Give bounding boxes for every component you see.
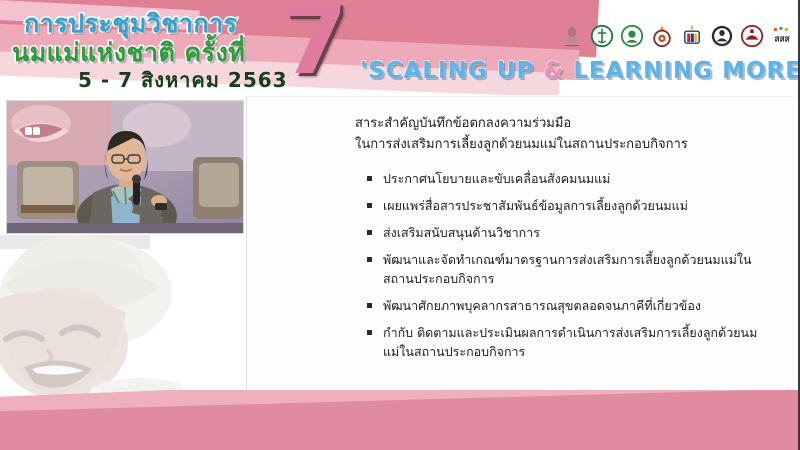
- thai-breastfeeding-centre-logo: [710, 24, 734, 48]
- baby-photo: [0, 235, 245, 410]
- sponsor-logo-row: สสส: [560, 24, 794, 48]
- royal-crest-logo: [560, 24, 584, 48]
- thaihealth-sss-logo: สสส: [770, 24, 794, 48]
- edition-number: 7: [281, 0, 351, 86]
- list-item: เผยแพร่สื่อสารประชาสัมพันธ์ข้อมูลการเลี้…: [367, 196, 767, 215]
- content-heading: สาระสำคัญบันทึกข้อตกลงความร่วมมือ ในการส…: [355, 113, 688, 155]
- ministry-social-development-logo: [680, 24, 704, 48]
- edition-number-badge: 7: [281, 0, 351, 86]
- conference-date: 5 - 7 สิงหาคม 2563: [78, 64, 288, 95]
- svg-text:สสส: สสส: [775, 33, 791, 43]
- list-item: กำกับ ติดตามและประเมินผลการดำเนินการส่งเ…: [367, 323, 767, 361]
- speaker-video-image: [7, 101, 243, 233]
- content-bullet-list: ประกาศนโยบายและขับเคลื่อนสังคมนมแม่ เผยแ…: [367, 169, 767, 369]
- baby-photo-image: [0, 235, 245, 410]
- speaker-video-thumbnail[interactable]: [6, 100, 244, 234]
- ministry-labour-logo: [650, 24, 674, 48]
- slide-header-banner: 7 การประชุมวิชาการ นมแม่แห่งชาติ ครั้งที…: [0, 0, 800, 95]
- bottom-pink-wave: [0, 390, 800, 450]
- list-item: ประกาศนโยบายและขับเคลื่อนสังคมนมแม่: [367, 169, 767, 188]
- federation-thai-industries-logo: [740, 24, 764, 48]
- presentation-slide: 7 การประชุมวิชาการ นมแม่แห่งชาติ ครั้งที…: [0, 0, 800, 450]
- ministry-public-health-logo: [590, 24, 614, 48]
- list-item: พัฒนาศักยภาพบุคลากรสาธารณสุขตลอดจนภาคีที…: [367, 296, 767, 315]
- health-department-logo: [620, 24, 644, 48]
- list-item: ส่งเสริมสนับสนุนด้านวิชาการ: [367, 223, 767, 242]
- conference-tagline: 'SCALING UP & LEARNING MORE': [360, 58, 800, 84]
- content-heading-line1: สาระสำคัญบันทึกข้อตกลงความร่วมมือ: [355, 113, 688, 134]
- list-item: พัฒนาและจัดทำเกณฑ์มาตรฐานการส่งเสริมการเ…: [367, 250, 767, 288]
- tagline-prefix: 'SCALING UP: [360, 58, 543, 84]
- tagline-suffix: LEARNING MORE': [564, 58, 800, 84]
- tagline-ampersand: &: [543, 58, 564, 84]
- content-panel: สาระสำคัญบันทึกข้อตกลงความร่วมมือ ในการส…: [246, 96, 794, 418]
- content-heading-line2: ในการส่งเสริมการเลี้ยงลูกด้วยนมแม่ในสถาน…: [355, 134, 688, 155]
